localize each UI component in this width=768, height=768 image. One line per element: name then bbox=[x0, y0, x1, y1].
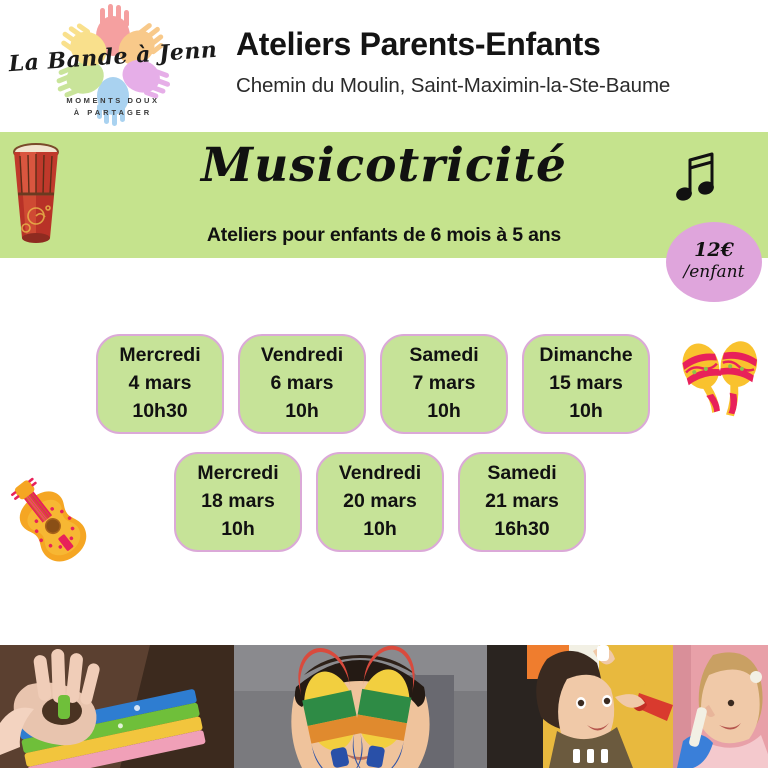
venue-address: Chemin du Moulin, Saint-Maximin-la-Ste-B… bbox=[236, 74, 670, 98]
session-date: 18 mars bbox=[201, 488, 275, 516]
session-card[interactable]: Samedi 7 mars 10h bbox=[380, 334, 508, 434]
price-unit: /enfant bbox=[684, 262, 745, 283]
session-date: 21 mars bbox=[485, 488, 559, 516]
session-time: 10h30 bbox=[132, 398, 187, 426]
photo-strip bbox=[0, 645, 768, 768]
session-card[interactable]: Vendredi 20 mars 10h bbox=[316, 452, 444, 552]
session-time: 10h bbox=[363, 516, 397, 544]
logo-tagline-line1: MOMENTS DOUX bbox=[8, 96, 218, 105]
session-card[interactable]: Mercredi 18 mars 10h bbox=[174, 452, 302, 552]
workshop-age-range: Ateliers pour enfants de 6 mois à 5 ans bbox=[0, 224, 768, 247]
session-card[interactable]: Samedi 21 mars 16h30 bbox=[458, 452, 586, 552]
session-row-1: Mercredi 4 mars 10h30 Vendredi 6 mars 10… bbox=[96, 334, 650, 434]
price-amount: 12€ bbox=[694, 240, 734, 262]
music-note-icon bbox=[672, 150, 720, 210]
acoustic-guitar-icon bbox=[6, 470, 118, 570]
session-card[interactable]: Mercredi 4 mars 10h30 bbox=[96, 334, 224, 434]
session-day: Dimanche bbox=[539, 342, 632, 370]
session-day: Vendredi bbox=[261, 342, 343, 370]
session-day: Samedi bbox=[487, 460, 556, 488]
photo-girls-instruments bbox=[487, 645, 768, 768]
brand-logo: La Bande à Jenn MOMENTS DOUX À PARTAGER bbox=[8, 4, 218, 132]
session-day: Vendredi bbox=[339, 460, 421, 488]
session-date: 4 mars bbox=[129, 370, 192, 398]
photo-child-maracas bbox=[234, 645, 487, 768]
workshop-banner: Musicotricité Ateliers pour enfants de 6… bbox=[0, 132, 768, 258]
session-time: 10h bbox=[427, 398, 461, 426]
logo-tagline-line2: À PARTAGER bbox=[8, 108, 218, 117]
session-time: 10h bbox=[285, 398, 319, 426]
session-date: 20 mars bbox=[343, 488, 417, 516]
header-title-block: Ateliers Parents-Enfants Chemin du Mouli… bbox=[236, 26, 670, 98]
session-row-2: Mercredi 18 mars 10h Vendredi 20 mars 10… bbox=[174, 452, 586, 552]
session-time: 16h30 bbox=[494, 516, 549, 544]
session-date: 15 mars bbox=[549, 370, 623, 398]
session-time: 10h bbox=[221, 516, 255, 544]
session-card[interactable]: Vendredi 6 mars 10h bbox=[238, 334, 366, 434]
poster-header: La Bande à Jenn MOMENTS DOUX À PARTAGER … bbox=[0, 0, 768, 132]
session-day: Mercredi bbox=[197, 460, 278, 488]
session-card[interactable]: Dimanche 15 mars 10h bbox=[522, 334, 650, 434]
session-time: 10h bbox=[569, 398, 603, 426]
session-day: Mercredi bbox=[119, 342, 200, 370]
session-day: Samedi bbox=[409, 342, 478, 370]
session-date: 7 mars bbox=[413, 370, 476, 398]
page-title: Ateliers Parents-Enfants bbox=[236, 26, 670, 63]
session-date: 6 mars bbox=[271, 370, 334, 398]
price-badge: 12€ /enfant bbox=[666, 222, 762, 302]
workshop-name: Musicotricité bbox=[0, 138, 768, 193]
photo-child-xylophone bbox=[0, 645, 234, 768]
maracas-icon bbox=[676, 336, 766, 424]
